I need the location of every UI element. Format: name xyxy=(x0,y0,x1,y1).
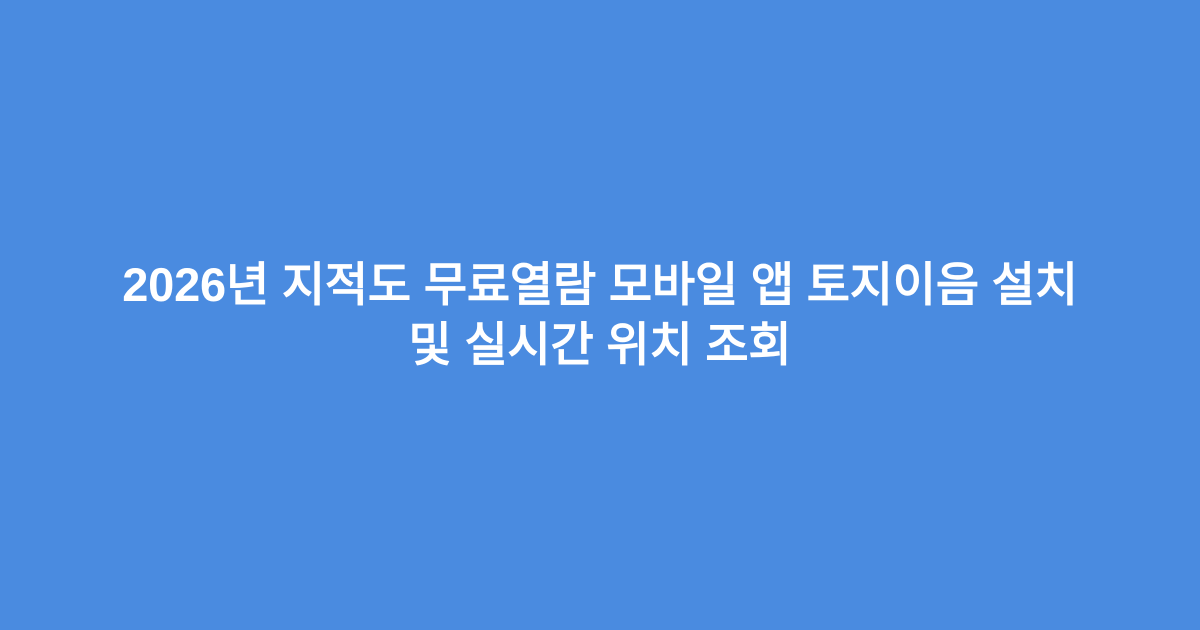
og-card-canvas: 2026년 지적도 무료열람 모바일 앱 토지이음 설치 및 실시간 위치 조회 xyxy=(0,0,1200,630)
headline-block: 2026년 지적도 무료열람 모바일 앱 토지이음 설치 및 실시간 위치 조회 xyxy=(60,255,1140,375)
page-title: 2026년 지적도 무료열람 모바일 앱 토지이음 설치 및 실시간 위치 조회 xyxy=(84,255,1116,375)
